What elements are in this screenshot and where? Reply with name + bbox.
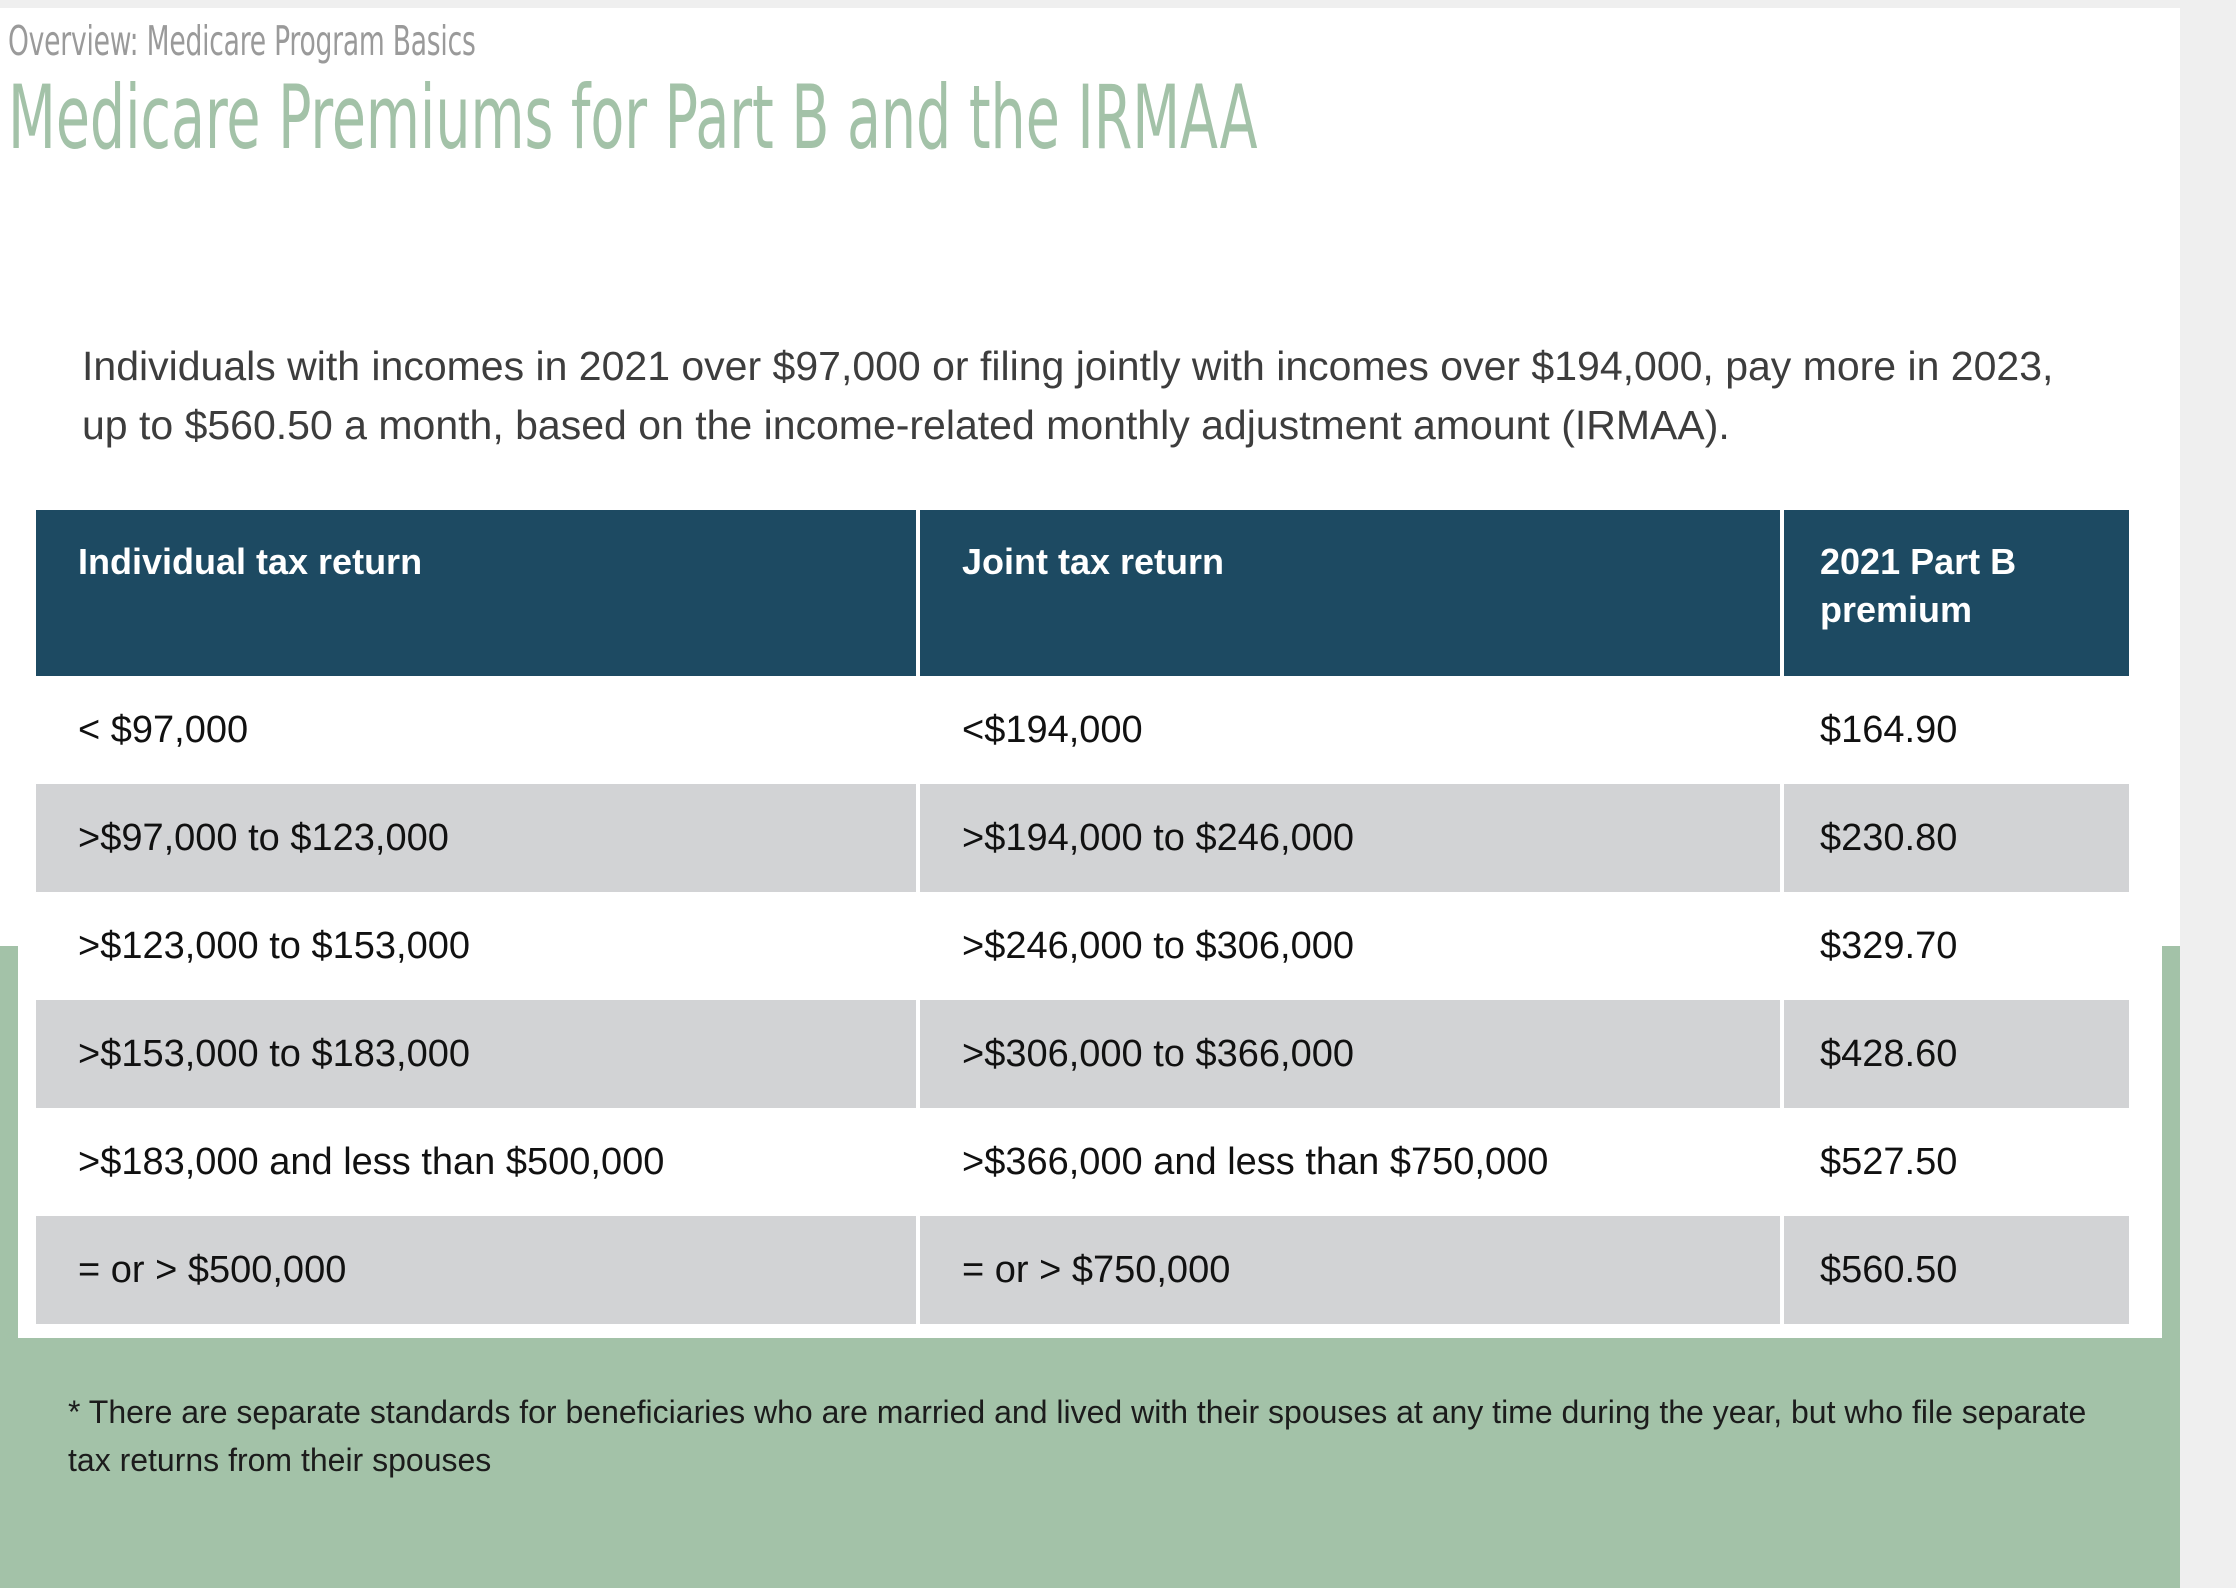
cell-individual: >$153,000 to $183,000 bbox=[36, 1000, 916, 1108]
column-header-individual: Individual tax return bbox=[36, 510, 916, 676]
cell-joint: >$194,000 to $246,000 bbox=[920, 784, 1780, 892]
cell-individual: < $97,000 bbox=[36, 676, 916, 784]
cell-individual: >$183,000 and less than $500,000 bbox=[36, 1108, 916, 1216]
cell-individual: >$123,000 to $153,000 bbox=[36, 892, 916, 1000]
slide-header: Overview: Medicare Program Basics Medica… bbox=[8, 20, 2108, 168]
column-header-premium-line2: premium bbox=[1820, 589, 1972, 630]
intro-paragraph: Individuals with incomes in 2021 over $9… bbox=[82, 337, 2092, 455]
table-row: >$183,000 and less than $500,000 >$366,0… bbox=[36, 1108, 2129, 1216]
cell-premium: $230.80 bbox=[1784, 784, 2129, 892]
irmaa-premium-table: Individual tax return Joint tax return 2… bbox=[32, 510, 2133, 1324]
footnote-text: * There are separate standards for benef… bbox=[68, 1388, 2088, 1484]
cell-joint: >$246,000 to $306,000 bbox=[920, 892, 1780, 1000]
table-row: >$153,000 to $183,000 >$306,000 to $366,… bbox=[36, 1000, 2129, 1108]
cell-premium: $527.50 bbox=[1784, 1108, 2129, 1216]
cell-premium: $428.60 bbox=[1784, 1000, 2129, 1108]
column-header-premium: 2021 Part B premium bbox=[1784, 510, 2129, 676]
page-title: Medicare Premiums for Part B and the IRM… bbox=[8, 69, 1478, 168]
column-header-premium-line1: 2021 Part B bbox=[1820, 541, 2016, 582]
cell-joint: <$194,000 bbox=[920, 676, 1780, 784]
table-header-row: Individual tax return Joint tax return 2… bbox=[36, 510, 2129, 676]
slide: Overview: Medicare Program Basics Medica… bbox=[0, 8, 2180, 1588]
table-body: < $97,000 <$194,000 $164.90 >$97,000 to … bbox=[36, 676, 2129, 1324]
column-header-joint: Joint tax return bbox=[920, 510, 1780, 676]
table-row: < $97,000 <$194,000 $164.90 bbox=[36, 676, 2129, 784]
cell-premium: $560.50 bbox=[1784, 1216, 2129, 1324]
table-row: >$97,000 to $123,000 >$194,000 to $246,0… bbox=[36, 784, 2129, 892]
table-row: >$123,000 to $153,000 >$246,000 to $306,… bbox=[36, 892, 2129, 1000]
eyebrow-text: Overview: Medicare Program Basics bbox=[8, 20, 1520, 63]
cell-premium: $329.70 bbox=[1784, 892, 2129, 1000]
cell-joint: >$306,000 to $366,000 bbox=[920, 1000, 1780, 1108]
cell-premium: $164.90 bbox=[1784, 676, 2129, 784]
cell-joint: >$366,000 and less than $750,000 bbox=[920, 1108, 1780, 1216]
table-row: = or > $500,000 = or > $750,000 $560.50 bbox=[36, 1216, 2129, 1324]
cell-individual: = or > $500,000 bbox=[36, 1216, 916, 1324]
cell-individual: >$97,000 to $123,000 bbox=[36, 784, 916, 892]
cell-joint: = or > $750,000 bbox=[920, 1216, 1780, 1324]
